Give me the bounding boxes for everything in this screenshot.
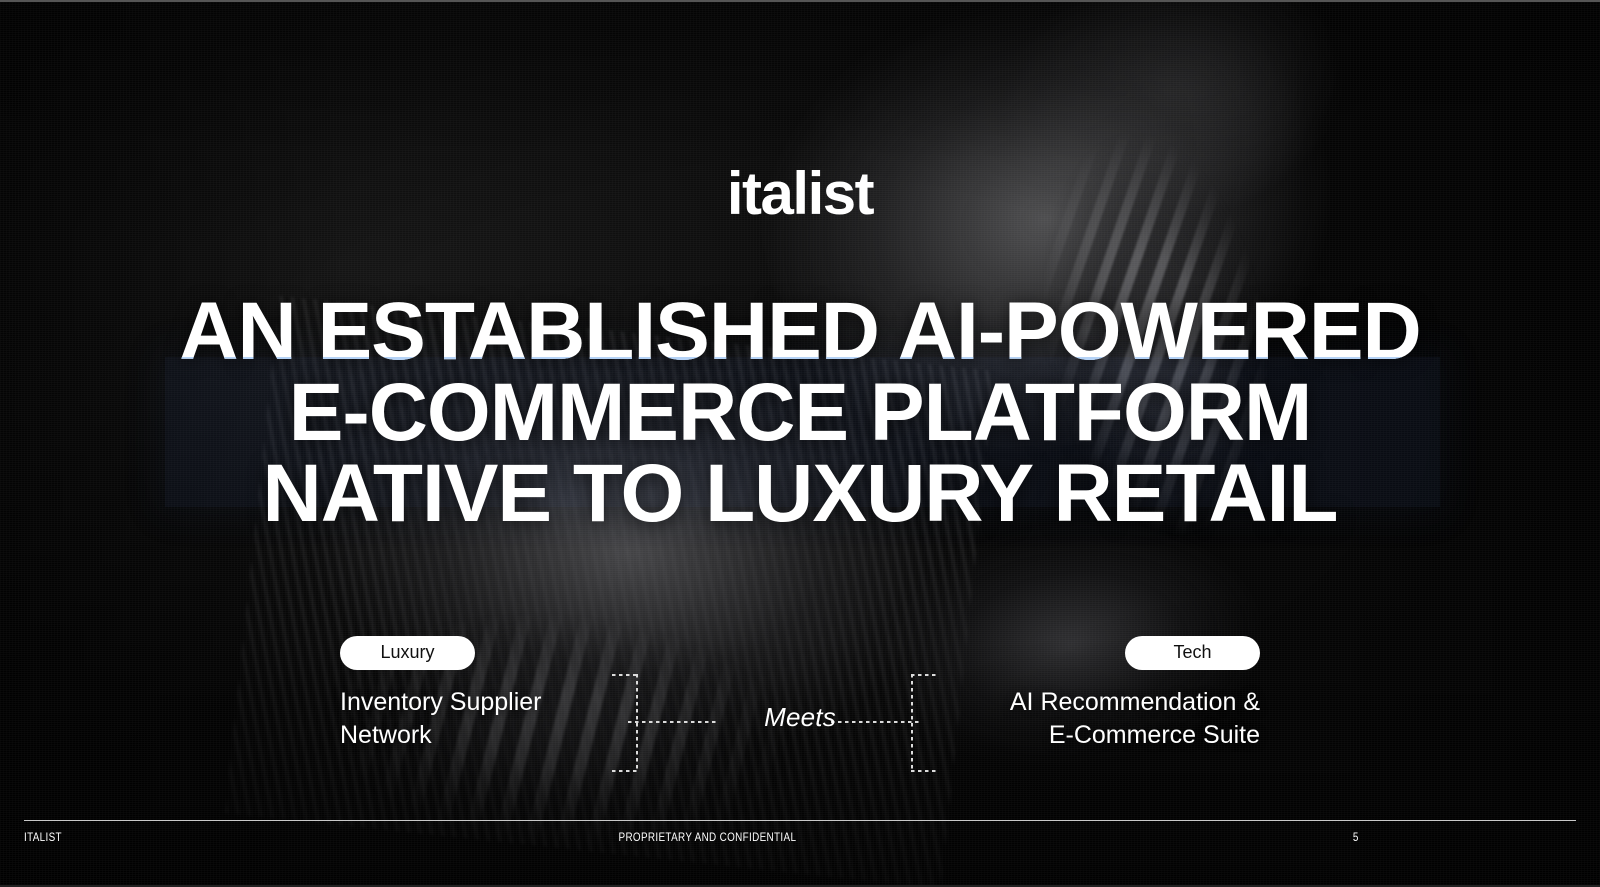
connector-label-meets: Meets	[0, 702, 1600, 733]
bracket-bottom-stub	[911, 770, 937, 772]
comparison-column-luxury: Luxury Inventory Supplier Network	[340, 636, 700, 752]
page-title: AN ESTABLISHED AI-POWERED E-COMMERCE PLA…	[0, 291, 1600, 535]
comparison-column-tech: Tech AI Recommendation & E-Commerce Suit…	[900, 636, 1260, 752]
italist-logo: italist	[0, 164, 1600, 224]
badge-luxury: Luxury	[340, 636, 475, 670]
headline-container: AN ESTABLISHED AI-POWERED E-COMMERCE PLA…	[0, 291, 1600, 535]
bracket-top-stub	[612, 674, 638, 676]
slide-footer: ITALIST PROPRIETARY AND CONFIDENTIAL 5	[24, 832, 1359, 844]
bracket-bottom-stub	[612, 770, 638, 772]
footer-confidential: PROPRIETARY AND CONFIDENTIAL	[62, 832, 1353, 844]
footer-brand: ITALIST	[24, 832, 62, 844]
footer-divider	[24, 820, 1576, 821]
footer-page-number: 5	[1353, 832, 1359, 844]
bracket-top-stub	[911, 674, 937, 676]
presentation-slide: italist AN ESTABLISHED AI-POWERED E-COMM…	[0, 0, 1600, 887]
badge-tech: Tech	[1125, 636, 1260, 670]
